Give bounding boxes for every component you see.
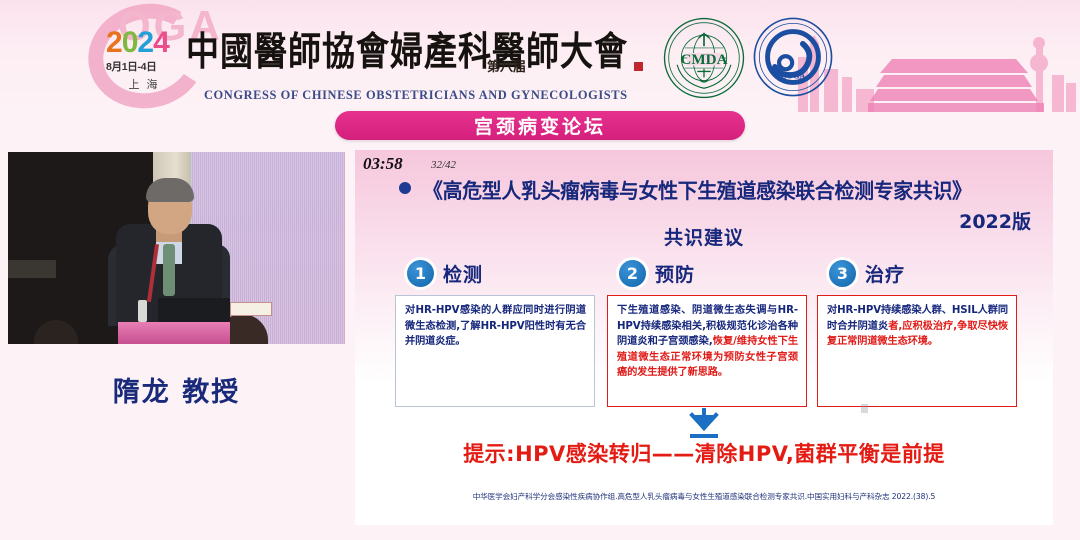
slide-timer: 03:58 [363,154,403,174]
svg-text:CMDA: CMDA [681,52,728,68]
column-header-3: 3 治疗 [817,256,1017,290]
step-number-badge-2: 2 [619,260,646,287]
screen: OGA 2024 8月1日-4日 上 海 中國醫師協會婦產科醫師大會 第八届 C… [0,0,1080,540]
conference-title-en: CONGRESS OF CHINESE OBSTETRICIANS AND GY… [204,88,628,103]
recommendation-text-box-1: 对HR-HPV感染的人群应同时进行阴道微生态检测,了解HR-HPV阳性时有无合并… [395,295,595,407]
logo-dates: 8月1日-4日 [106,59,188,74]
recommendation-text-box-2: 下生殖道感染、阴道微生态失调与HR-HPV持续感染相关,积极规范化诊治各种阴道炎… [607,295,807,407]
step-number-badge-3: 3 [829,260,856,287]
recommendation-columns: 1 检测 对HR-HPV感染的人群应同时进行阴道微生态检测,了解HR-HPV阳性… [389,256,1029,426]
down-arrow-icon [684,408,724,440]
logo-year: 2024 [106,28,188,58]
bullet-point-icon [399,182,411,194]
video-side-panel [8,260,56,278]
conference-header: OGA 2024 8月1日-4日 上 海 中國醫師協會婦產科醫師大會 第八届 C… [0,0,1080,112]
red-seal-stamp [634,62,643,71]
speaker-tie [163,244,175,296]
cmda-logo: CMDA [662,16,746,100]
water-bottle [138,300,147,322]
step-number-badge-1: 1 [407,260,434,287]
presentation-slide[interactable]: 03:58 32/42 《高危型人乳头瘤病毒与女性下生殖道感染联合检测专家共识》… [355,150,1053,525]
slide-tip-text: 提示:HPV感染转归——清除HPV,菌群平衡是前提 [355,438,1053,468]
column-label-2: 预防 [655,260,695,287]
recommendation-column-2: 2 预防 下生殖道感染、阴道微生态失调与HR-HPV持续感染相关,积极规范化诊治… [607,256,807,407]
column-label-3: 治疗 [865,260,905,287]
podium-nameplate [230,302,272,316]
recommendation-text-box-3: 对HR-HPV持续感染人群、HSIL人群同时合并阴道炎者,应积极治疗,争取尽快恢… [817,295,1017,407]
speaker-video[interactable] [8,152,345,344]
flow-arrow [355,408,1053,440]
slide-title: 《高危型人乳头瘤病毒与女性下生殖道感染联合检测专家共识》 [423,174,1024,204]
slide-subheading: 共识建议 [355,223,1053,250]
conference-title-cn-sub: 第八届 [487,56,526,75]
conference-title-cn: 中國醫師協會婦產科醫師大會 [186,20,628,77]
column-header-1: 1 检测 [395,256,595,290]
speaker-name-label: 隋龙 教授 [8,370,345,409]
box-1-blue-text: 对HR-HPV感染的人群应同时进行阴道微生态检测,了解HR-HPV阳性时有无合并… [405,305,586,347]
svg-text:COGA: COGA [781,71,806,80]
podium-laptop [158,298,230,322]
column-label-1: 检测 [443,260,483,287]
recommendation-column-1: 1 检测 对HR-HPV感染的人群应同时进行阴道微生态检测,了解HR-HPV阳性… [395,256,595,407]
slide-citation: 中华医学会妇产科学分会感染性疾病协作组.高危型人乳头瘤病毒与女性生殖道感染联合检… [355,491,1053,502]
forum-title-banner: 宫颈病变论坛 [335,111,745,140]
column-header-2: 2 预防 [607,256,807,290]
coga-logo: COGA [752,16,834,98]
year-block: 2024 8月1日-4日 上 海 [106,28,188,92]
recommendation-column-3: 3 治疗 对HR-HPV持续感染人群、HSIL人群同时合并阴道炎者,应积极治疗,… [817,256,1017,407]
speaker-hair [146,178,194,202]
logo-city: 上 海 [120,76,168,92]
slide-page-indicator: 32/42 [431,159,456,171]
podium [118,322,230,344]
